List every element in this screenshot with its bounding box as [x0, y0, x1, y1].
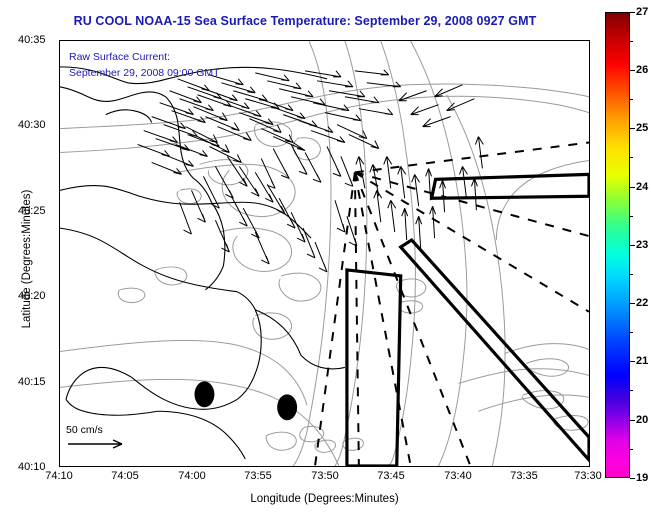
colorbar-tick-label: 27 [636, 6, 648, 18]
right-arrow-icon [66, 437, 136, 451]
station-marker [277, 394, 297, 420]
sst-map-figure: RU COOL NOAA-15 Sea Surface Temperature:… [0, 0, 651, 518]
x-axis-title: Longitude (Degrees:Minutes) [59, 493, 590, 505]
x-tick-label: 73:35 [510, 470, 538, 482]
x-tick-label: 73:50 [311, 470, 339, 482]
x-tick-label: 74:00 [178, 470, 206, 482]
temperature-colorbar [605, 12, 630, 478]
x-tick-label: 73:40 [444, 470, 472, 482]
colorbar-tick-label: 24 [636, 181, 648, 193]
y-tick-label: 40:35 [18, 34, 46, 46]
vector-scale-label: 50 cm/s [66, 424, 186, 436]
y-tick-label: 40:30 [18, 119, 46, 131]
figure-title: RU COOL NOAA-15 Sea Surface Temperature:… [0, 14, 610, 28]
y-tick-label: 40:10 [18, 461, 46, 473]
x-tick-label: 73:45 [377, 470, 405, 482]
y-axis-title: Latitude (Degrees:Minutes) [21, 169, 33, 349]
colorbar-tick-label: 20 [636, 414, 648, 426]
station-marker [194, 381, 214, 407]
station-markers-layer [60, 41, 589, 466]
y-tick-label: 40:15 [18, 376, 46, 388]
map-plot-area: Raw Surface Current: September 29, 2008 … [59, 40, 590, 467]
colorbar-tick-label: 22 [636, 297, 648, 309]
x-tick-label: 74:05 [111, 470, 139, 482]
colorbar-tick-label: 26 [636, 64, 648, 76]
colorbar-tick-label: 21 [636, 355, 648, 367]
x-tick-label: 73:30 [574, 470, 602, 482]
x-tick-label: 74:10 [45, 470, 73, 482]
x-tick-label: 73:55 [244, 470, 272, 482]
colorbar-tick-label: 25 [636, 122, 648, 134]
vector-scale-key: 50 cm/s [66, 424, 186, 456]
colorbar-tick-label: 23 [636, 239, 648, 251]
colorbar-tick-label: 19 [636, 472, 648, 484]
